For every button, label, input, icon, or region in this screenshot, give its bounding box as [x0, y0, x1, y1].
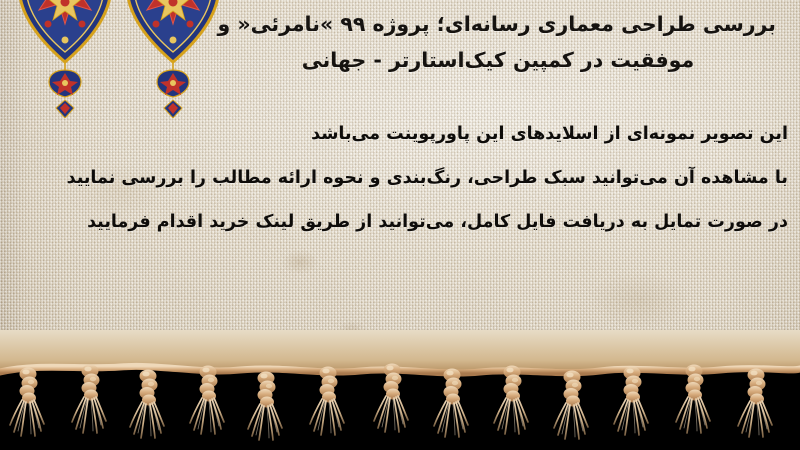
carpet-ornament-group — [0, 0, 240, 118]
black-background-zone — [0, 368, 800, 450]
slide-title-line-1: بررسی طراحی معماری رسانه‌ای؛ پروژه ۹۹ »ن… — [220, 6, 776, 42]
slide-title-line-2: موفقیت در کمپین کیک‌استارتر - جهانی — [220, 42, 776, 78]
body-line-2: با مشاهده آن می‌توانید سبک طراحی، رنگ‌بن… — [18, 156, 788, 200]
body-line-3: در صورت تمایل به دریافت فایل کامل، می‌تو… — [18, 200, 788, 244]
body-line-1: این تصویر نمونه‌ای از اسلایدهای این پاور… — [18, 112, 788, 156]
ornament-medallion-right — [127, 0, 219, 118]
slide-body-text: این تصویر نمونه‌ای از اسلایدهای این پاور… — [18, 112, 788, 244]
slide-title: بررسی طراحی معماری رسانه‌ای؛ پروژه ۹۹ »ن… — [220, 6, 776, 78]
presentation-slide: بررسی طراحی معماری رسانه‌ای؛ پروژه ۹۹ »ن… — [0, 0, 800, 450]
ornament-medallion-left — [19, 0, 111, 118]
